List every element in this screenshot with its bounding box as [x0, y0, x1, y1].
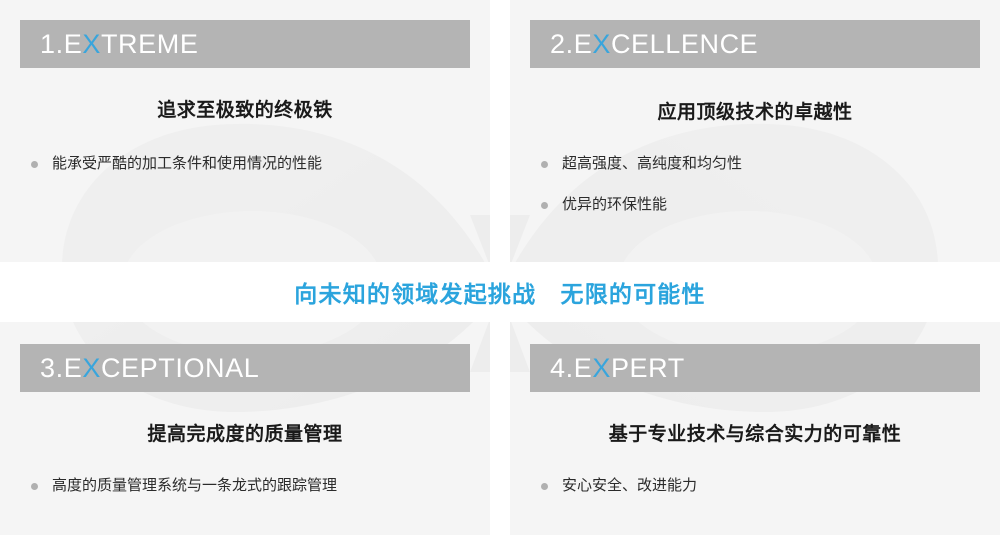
panel-exceptional-subtitle: 提高完成度的质量管理: [20, 425, 470, 444]
list-item: 超高强度、高纯度和均匀性: [530, 155, 990, 173]
values-diagram: 1.EXTREME 追求至极致的终极铁 能承受严酷的加工条件和使用情况的性能 2…: [0, 0, 1000, 538]
panel-extreme-header: 1.EXTREME: [20, 20, 470, 68]
column-gutter-bottom: [490, 322, 510, 538]
list-item-label: 超高强度、高纯度和均匀性: [562, 155, 742, 172]
bullet-dot-icon: [31, 161, 38, 168]
list-item-label: 能承受严酷的加工条件和使用情况的性能: [52, 155, 322, 172]
panel-exceptional-header: 3.EXCEPTIONAL: [20, 344, 470, 392]
list-item: 高度的质量管理系统与一条龙式的跟踪管理: [20, 477, 480, 495]
bullet-dot-icon: [541, 161, 548, 168]
panel-expert-bullets: 安心安全、改进能力: [530, 477, 990, 518]
list-item-label: 高度的质量管理系统与一条龙式的跟踪管理: [52, 477, 337, 494]
column-gutter-top: [490, 0, 510, 262]
panel-expert-header: 4.EXPERT: [530, 344, 980, 392]
list-item: 优异的环保性能: [530, 196, 990, 214]
panel-exceptional-title: 3.EXCEPTIONAL: [20, 355, 259, 382]
panel-excellence-header: 2.EXCELLENCE: [530, 20, 980, 68]
bullet-dot-icon: [541, 202, 548, 209]
center-slogan: 向未知的领域发起挑战 无限的可能性: [0, 262, 1000, 322]
panel-expert-subtitle: 基于专业技术与综合实力的可靠性: [530, 425, 980, 444]
panel-exceptional-bullets: 高度的质量管理系统与一条龙式的跟踪管理: [20, 477, 480, 518]
list-item-label: 安心安全、改进能力: [562, 477, 697, 494]
panel-expert-title: 4.EXPERT: [530, 355, 685, 382]
bullet-dot-icon: [541, 483, 548, 490]
list-item: 能承受严酷的加工条件和使用情况的性能: [20, 155, 480, 173]
panel-excellence-subtitle: 应用顶级技术的卓越性: [530, 103, 980, 122]
list-item-label: 优异的环保性能: [562, 196, 667, 213]
bullet-dot-icon: [31, 483, 38, 490]
panel-excellence-title: 2.EXCELLENCE: [530, 31, 758, 58]
panel-extreme-subtitle: 追求至极致的终极铁: [20, 101, 470, 120]
panel-extreme-bullets: 能承受严酷的加工条件和使用情况的性能: [20, 155, 480, 196]
panel-excellence-bullets: 超高强度、高纯度和均匀性 优异的环保性能: [530, 155, 990, 237]
list-item: 安心安全、改进能力: [530, 477, 990, 495]
panel-extreme-title: 1.EXTREME: [20, 31, 198, 58]
